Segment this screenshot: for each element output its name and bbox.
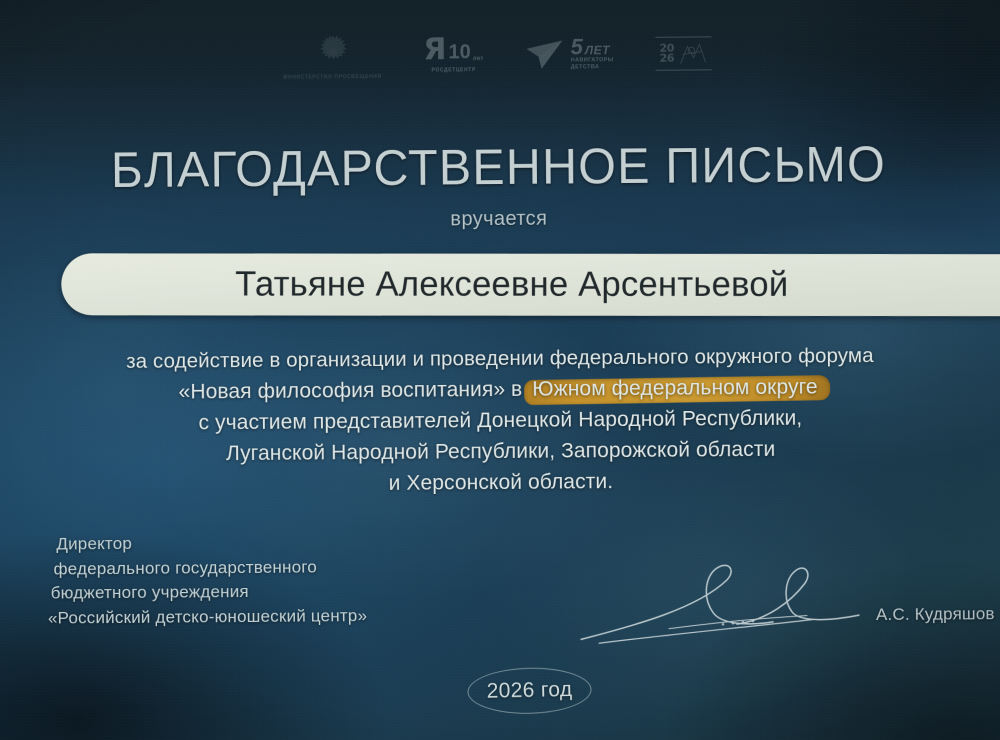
page-title: БЛАГОДАРСТВЕННОЕ ПИСЬМО [13, 134, 983, 200]
logo-row: МИНИСТЕРСТВО ПРОСВЕЩЕНИЯ Я 10 лет РОСДЕТ… [0, 18, 998, 92]
paper-plane-icon [526, 37, 566, 71]
recipient-name-banner: Татьяне Алексеевне Арсентьевой [61, 253, 1000, 316]
signatory-role-line-4: «Российский детско-юношеский центр» [48, 604, 367, 631]
navigators-caption-line2: ДЕТСТВА [571, 64, 600, 71]
navigators-number: 5 [571, 37, 583, 57]
signatory-role-line-2: федерального государственного [47, 555, 366, 582]
signatory-name: А.С. Кудряшов [876, 604, 995, 625]
coat-of-arms-caption: МИНИСТЕРСТВО ПРОСВЕЩЕНИЯ [283, 74, 381, 81]
navigators-years-label: ЛЕТ [585, 43, 610, 57]
year-label: 2026 год [486, 678, 572, 704]
year-2026-line2: 26 [660, 54, 674, 64]
navigators-of-childhood-logo-icon: 5 ЛЕТ НАВИГАТОРЫ ДЕТСТВА [526, 37, 614, 72]
handwritten-signature [576, 549, 907, 648]
year-2026-emblem-icon: 20 26 [655, 36, 712, 70]
signatory-role-block: Директор федерального государственного б… [47, 530, 367, 631]
awarded-to-label: вручается [0, 204, 999, 235]
citation-line-2-prefix: «Новая философия воспитания» в [178, 378, 528, 404]
citation-line-5: и Херсонской области. [1, 463, 1000, 502]
recipient-name: Татьяне Алексеевне Арсентьевой [235, 264, 788, 304]
year-badge: 2026 год [467, 666, 592, 715]
certificate-photo: МИНИСТЕРСТВО ПРОСВЕЩЕНИЯ Я 10 лет РОСДЕТ… [0, 0, 1000, 740]
year-2026-frame: 20 26 [655, 36, 712, 70]
citation-text: за содействие в организации и проведении… [0, 339, 1000, 502]
rosdetcentr-mark: Я [423, 37, 446, 63]
russian-coat-of-arms-icon: МИНИСТЕРСТВО ПРОСВЕЩЕНИЯ [283, 32, 382, 81]
signatory-role-line-1: Директор [47, 530, 366, 557]
rosdetcentr-years-label: лет [473, 56, 484, 62]
coat-of-arms-emblem [315, 32, 349, 72]
certificate-sheet: МИНИСТЕРСТВО ПРОСВЕЩЕНИЯ Я 10 лет РОСДЕТ… [0, 0, 1000, 740]
signatory-role-line-3: бюджетного учреждения [48, 579, 367, 606]
year-2026-artwork [678, 40, 708, 66]
rosdetcentr-caption: РОСДЕТЦЕНТР [432, 67, 476, 73]
rosdetcentr-logo-icon: Я 10 лет РОСДЕТЦЕНТР [423, 37, 483, 74]
citation-highlighted-phrase: Южном федеральном округе [528, 375, 822, 400]
rosdetcentr-number: 10 [448, 42, 470, 62]
